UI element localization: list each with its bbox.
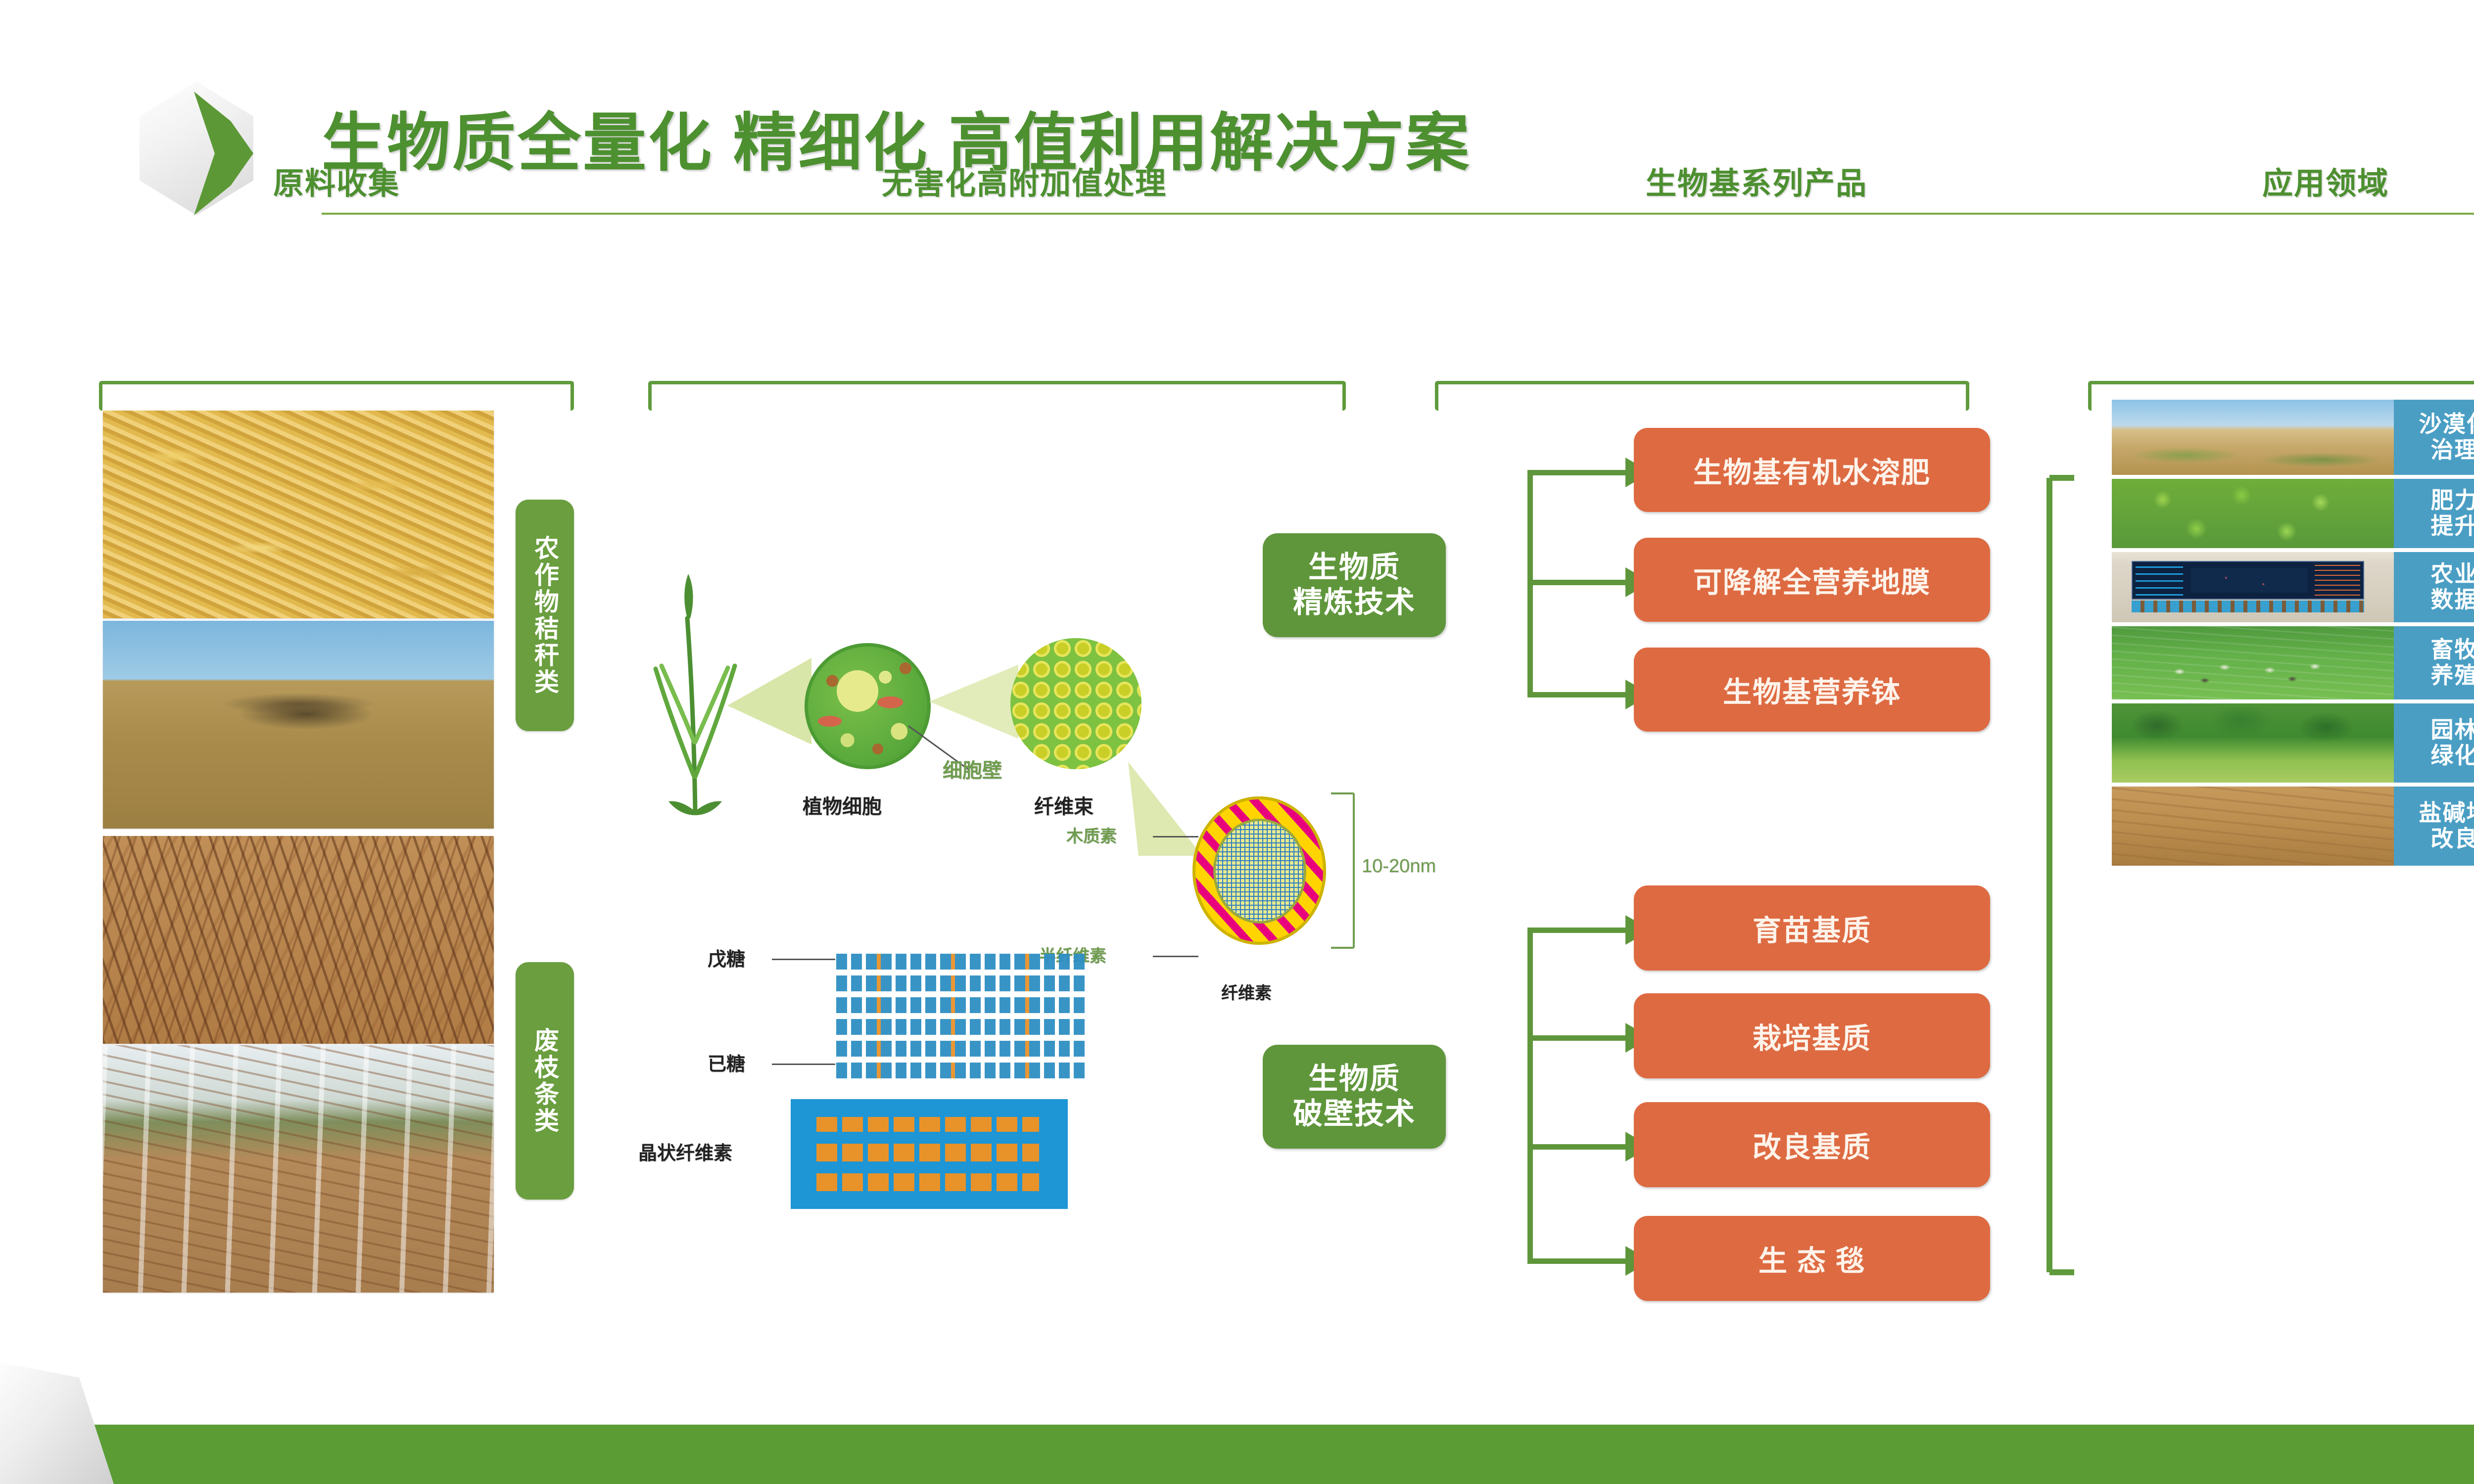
pentose-leader-line xyxy=(772,959,835,960)
product-box-improvement-substrate[interactable]: 改良基质 xyxy=(1634,1102,1990,1187)
magnify-cone-3 xyxy=(1128,762,1202,856)
sheep-grazing-photo xyxy=(2112,626,2394,699)
lignin-label: 木质素 xyxy=(1066,823,1117,847)
app-tag-line2: 养殖 xyxy=(2431,663,2474,689)
biomass-wall-breaking-box[interactable]: 生物质 破壁技术 xyxy=(1263,1045,1446,1149)
bracket-processing xyxy=(648,381,1346,411)
crystalline-cellulose-panel xyxy=(791,1099,1068,1209)
connector-branch-1c xyxy=(1527,692,1626,697)
app-tag-line2: 提升 xyxy=(2431,513,2474,539)
application-tag-livestock-breeding: 畜牧 养殖 xyxy=(2394,626,2474,699)
application-row-desertification-control[interactable]: 沙漠化 治理 xyxy=(2112,400,2474,475)
app-tag-line2: 治理 xyxy=(2431,437,2474,463)
cell-wall-label: 细胞壁 xyxy=(943,754,1002,783)
product-box-bio-water-soluble-fertilizer[interactable]: 生物基有机水溶肥 xyxy=(1634,428,1990,512)
app-tag-line2: 数据 xyxy=(2431,587,2474,613)
connector-branch-2d xyxy=(1527,1258,1626,1264)
app-tag-line2: 绿化 xyxy=(2431,743,2474,769)
app-tag-line1: 园林 xyxy=(2431,717,2474,743)
application-row-saline-land-improvement[interactable]: 盐碱地 改良 xyxy=(2112,787,2474,866)
connector-branch-1a xyxy=(1527,470,1626,475)
product-box-seedling-substrate[interactable]: 育苗基质 xyxy=(1634,885,1990,971)
crop-straw-tag-label: 农作物秸秆类 xyxy=(532,535,558,696)
lignin-leader-line xyxy=(1153,836,1198,837)
product-box-degradable-mulch-film[interactable]: 可降解全营养地膜 xyxy=(1634,538,1990,622)
application-tag-fertility-improvement: 肥力 提升 xyxy=(2394,479,2474,548)
straw-bale-field-photo xyxy=(103,621,494,829)
bracket-raw-material xyxy=(99,381,574,411)
product-box-bio-nutrient-pot[interactable]: 生物基营养钵 xyxy=(1634,648,1990,732)
fiber-bundle-label: 纤维束 xyxy=(1034,790,1094,819)
corn-straw-photo xyxy=(103,411,494,618)
crop-straw-tag: 农作物秸秆类 xyxy=(516,500,574,731)
connector-vertical-2 xyxy=(1527,927,1533,1264)
hexose-leader-line xyxy=(772,1064,835,1065)
cellulose-label: 纤维素 xyxy=(1221,979,1272,1004)
hemicellulose-leader-line xyxy=(1153,956,1198,957)
park-trees-photo xyxy=(2112,703,2394,783)
waste-branches-photo xyxy=(103,836,494,1044)
app-tag-line1: 农业 xyxy=(2431,561,2474,587)
biomass-refining-box[interactable]: 生物质 精炼技术 xyxy=(1263,533,1446,637)
application-tag-desertification-control: 沙漠化 治理 xyxy=(2394,400,2474,475)
connector-branch-2a xyxy=(1527,927,1626,933)
application-row-livestock-breeding[interactable]: 畜牧 养殖 xyxy=(2112,626,2474,699)
connector-branch-1b xyxy=(1527,580,1626,585)
waste-branches-tag-label: 废枝条类 xyxy=(532,1027,558,1134)
fiber-bundle-illustration xyxy=(1010,638,1142,769)
biomass-wall-breaking-line2: 破壁技术 xyxy=(1293,1097,1416,1132)
app-tag-line1: 肥力 xyxy=(2431,488,2474,513)
connector-branch-2c xyxy=(1527,1144,1626,1150)
column-header-raw-material: 原料收集 xyxy=(74,158,599,203)
applications-bracket xyxy=(2044,475,2078,1276)
plant-cell-label: 植物细胞 xyxy=(803,790,882,819)
app-tag-line2: 改良 xyxy=(2431,826,2474,852)
cellulose-core xyxy=(1213,819,1306,924)
biomass-refining-line2: 精炼技术 xyxy=(1293,585,1416,620)
app-tag-line1: 沙漠化 xyxy=(2419,412,2474,437)
biomass-refining-line1: 生物质 xyxy=(1308,550,1400,585)
column-header-products: 生物基系列产品 xyxy=(1410,158,2103,203)
plant-cell-illustration xyxy=(805,643,931,769)
footer-wedge-shape xyxy=(0,1360,114,1484)
application-tag-landscape-greening: 园林 绿化 xyxy=(2394,703,2474,783)
saline-soil-photo xyxy=(2112,787,2394,866)
product-box-cultivation-substrate[interactable]: 栽培基质 xyxy=(1634,993,1990,1078)
application-tag-saline-land-improvement: 盐碱地 改良 xyxy=(2394,787,2474,866)
footer-band xyxy=(0,1425,2474,1484)
application-tag-agricultural-data: 农业 数据 xyxy=(2394,552,2474,622)
scale-label: 10-20nm xyxy=(1362,856,1436,877)
application-row-landscape-greening[interactable]: 园林 绿化 xyxy=(2112,703,2474,783)
connector-branch-2b xyxy=(1527,1035,1626,1041)
biomass-wall-breaking-line1: 生物质 xyxy=(1308,1062,1400,1097)
pentose-label: 戊糖 xyxy=(708,944,745,971)
plant-grass-icon xyxy=(636,544,750,821)
application-row-fertility-improvement[interactable]: 肥力 提升 xyxy=(2112,479,2474,548)
title-divider xyxy=(322,213,2474,215)
waste-branches-tag: 废枝条类 xyxy=(516,962,574,1200)
hexose-label: 已糖 xyxy=(708,1049,745,1076)
magnify-cone-2 xyxy=(929,658,1018,742)
column-header-applications: 应用领域 xyxy=(2078,158,2474,203)
sugar-chain-diagram xyxy=(836,950,1089,1078)
desert-control-photo xyxy=(2112,400,2394,475)
app-tag-line1: 盐碱地 xyxy=(2419,800,2474,826)
product-box-ecological-blanket[interactable]: 生 态 毯 xyxy=(1634,1216,1990,1301)
orchard-pruning-photo xyxy=(103,1045,494,1293)
application-row-agricultural-data[interactable]: 农业 数据 xyxy=(2112,552,2474,622)
crystalline-cellulose-label: 晶状纤维素 xyxy=(638,1138,732,1165)
app-tag-line1: 畜牧 xyxy=(2431,637,2474,663)
scale-bracket-icon xyxy=(1331,791,1361,950)
cabbage-field-photo xyxy=(2112,479,2394,548)
bracket-products xyxy=(1435,381,1969,411)
data-control-room-photo xyxy=(2112,552,2394,622)
column-header-processing: 无害化高附加值处理 xyxy=(633,158,1415,203)
